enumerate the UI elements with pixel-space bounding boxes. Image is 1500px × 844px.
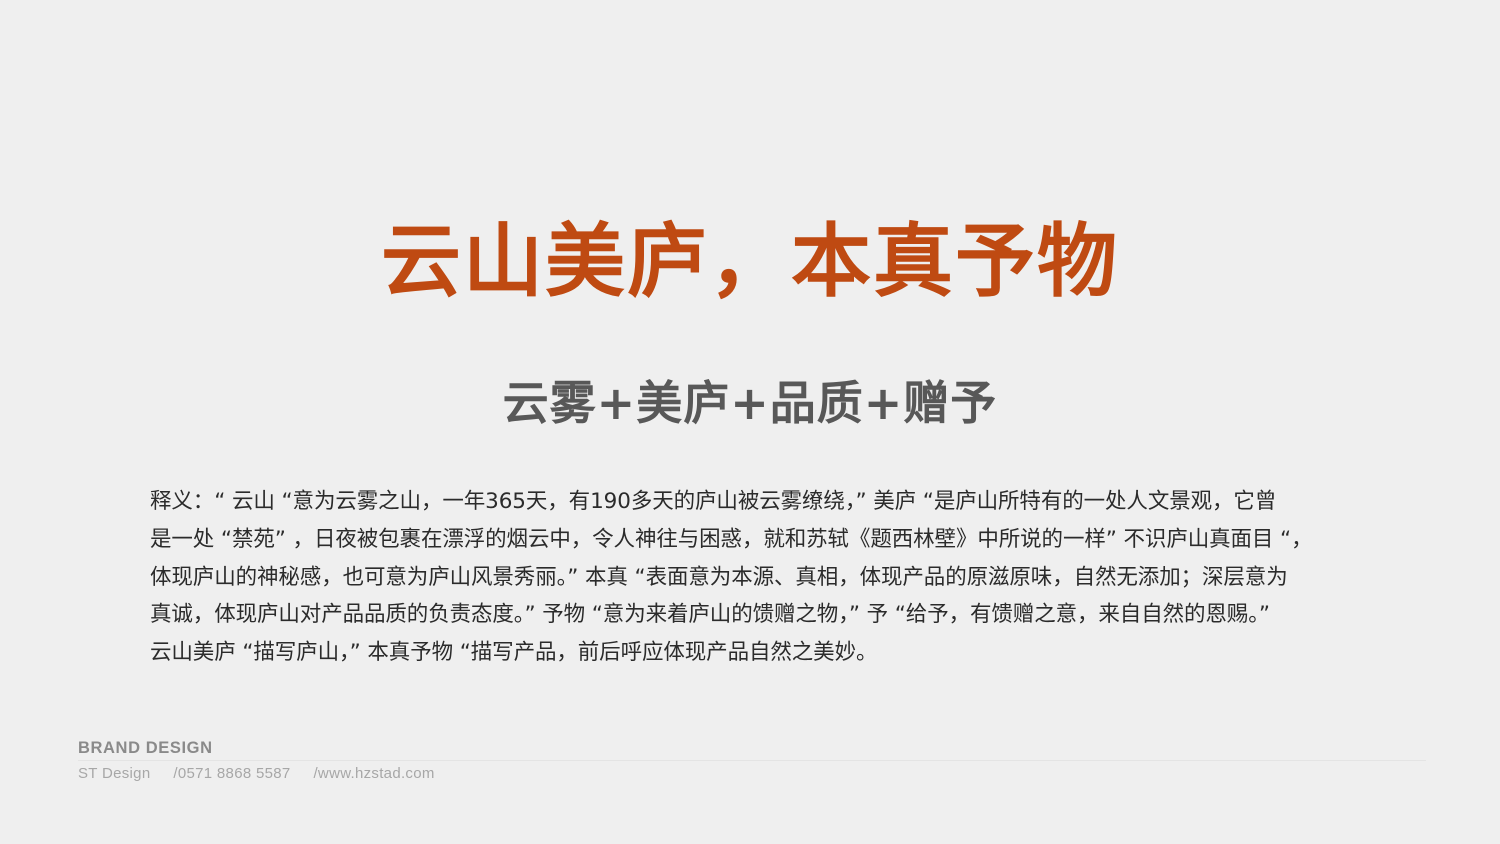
subheadline-container: 云雾+美庐+品质+赠予	[0, 342, 1500, 464]
paragraph-line: 云山美庐 “描写庐山，” 本真予物 “描写产品，前后呼应体现产品自然之美妙。	[150, 634, 1355, 672]
footer-phone: /0571 8868 5587	[173, 765, 290, 782]
footer-website: /www.hzstad.com	[313, 765, 434, 782]
definition-paragraph: 释义：“ 云山 “意为云雾之山，一年365天，有190多天的庐山被云雾缭绕，” …	[150, 483, 1355, 672]
paragraph-line: 释义：“ 云山 “意为云雾之山，一年365天，有190多天的庐山被云雾缭绕，” …	[150, 483, 1355, 521]
footer-divider	[78, 760, 1426, 761]
footer-studio-name: ST Design	[78, 765, 150, 782]
footer-brand-label: BRAND DESIGN	[78, 738, 1428, 758]
page-title: 云山美庐，本真予物	[381, 222, 1119, 302]
headline-container: 云山美庐，本真予物	[0, 168, 1500, 355]
page-subtitle: 云雾+美庐+品质+赠予	[503, 380, 998, 426]
paragraph-line: 是一处 “禁苑” ，日夜被包裹在漂浮的烟云中，令人神往与困惑，就和苏轼《题西林壁…	[150, 521, 1355, 559]
footer-contact-line: ST Design /0571 8868 5587 /www.hzstad.co…	[78, 764, 1428, 784]
slide-canvas: 云山美庐，本真予物 云雾+美庐+品质+赠予 释义：“ 云山 “意为云雾之山，一年…	[0, 0, 1500, 844]
paragraph-line: 体现庐山的神秘感，也可意为庐山风景秀丽。” 本真 “表面意为本源、真相，体现产品…	[150, 559, 1355, 597]
paragraph-line: 真诚，体现庐山对产品品质的负责态度。” 予物 “意为来着庐山的馈赠之物，” 予 …	[150, 596, 1355, 634]
slide-footer: BRAND DESIGN ST Design /0571 8868 5587 /…	[78, 738, 1428, 784]
